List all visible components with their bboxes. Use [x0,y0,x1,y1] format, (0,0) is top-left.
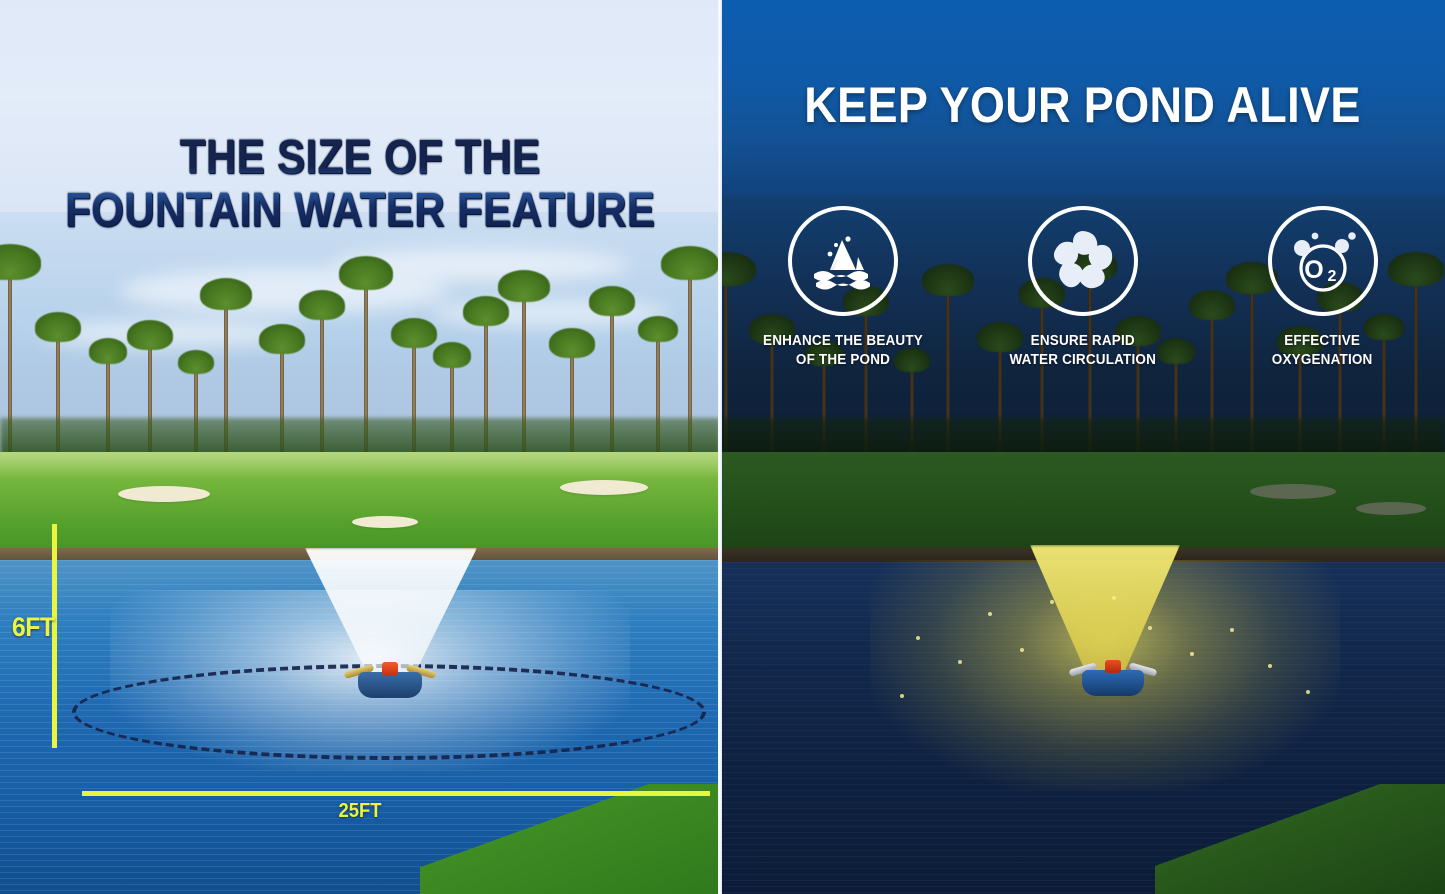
right-panel: KEEP YOUR POND ALIVE ENHANCE [720,0,1445,894]
feature-oxygenation: O 2 EFFECTIVE OXYGENATION [1229,206,1417,370]
mountain-water-stars-icon [788,206,898,316]
sand-bunker [352,516,418,528]
floating-fountain-unit-day [342,660,438,698]
fountain-nozzle [382,662,398,676]
floating-fountain-unit-night [1068,658,1158,696]
sand-bunker [560,480,648,495]
sand-bunker-night [1250,484,1336,499]
left-panel: THE SIZE OF THE FOUNTAIN WATER FEATURE 6… [0,0,720,894]
sand-bunker [118,486,210,502]
feature-enhance-beauty: ENHANCE THE BEAUTY OF THE POND [749,206,937,370]
width-guide-label: 25FT [29,800,691,823]
water-circulation-icon [1028,206,1138,316]
right-panel-title: KEEP YOUR POND ALIVE [756,76,1409,134]
panel-divider [718,0,722,894]
width-guide-line [82,791,710,796]
fountain-float [1082,670,1144,696]
feature-water-circulation: ENSURE RAPID WATER CIRCULATION [989,206,1177,370]
grass-bank-night [1155,784,1445,894]
feature-icon-row: ENHANCE THE BEAUTY OF THE POND ENSUR [720,206,1445,370]
fountain-nozzle [1105,660,1121,673]
left-panel-title: THE SIZE OF THE FOUNTAIN WATER FEATURE [43,78,677,290]
feature-label: ENHANCE THE BEAUTY OF THE POND [763,332,923,370]
svg-text:2: 2 [1327,268,1336,285]
sand-bunker-night [1356,502,1426,515]
feature-label: ENSURE RAPID WATER CIRCULATION [1009,332,1155,370]
infographic-board: THE SIZE OF THE FOUNTAIN WATER FEATURE 6… [0,0,1445,894]
svg-text:O: O [1304,256,1323,284]
left-header-band: THE SIZE OF THE FOUNTAIN WATER FEATURE [0,0,720,212]
oxygen-bubbles-icon: O 2 [1268,206,1378,316]
right-header-band: KEEP YOUR POND ALIVE [720,0,1445,196]
feature-label: EFFECTIVE OXYGENATION [1272,332,1373,370]
height-guide-label: 6FT [12,612,55,643]
left-panel-title-text: THE SIZE OF THE FOUNTAIN WATER FEATURE [43,131,677,237]
